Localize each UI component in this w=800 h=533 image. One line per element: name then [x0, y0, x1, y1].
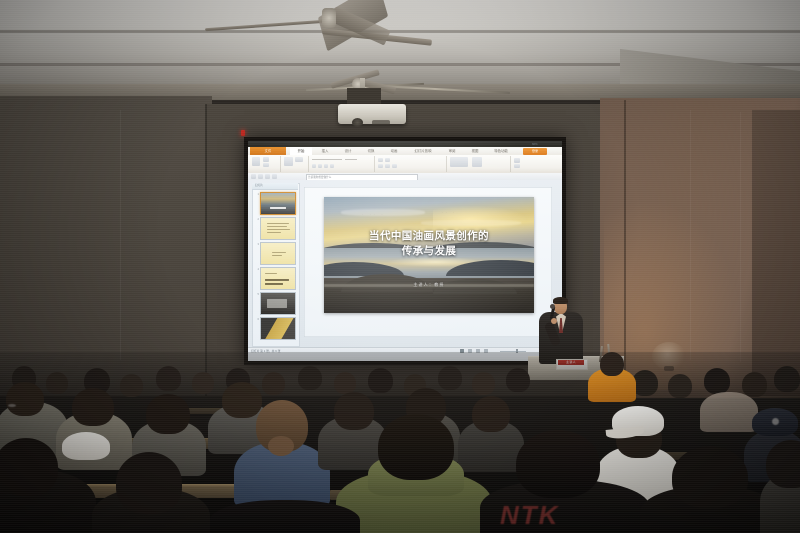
audience-head: [262, 372, 285, 395]
audience-head: [298, 366, 322, 390]
presenter-hair: [553, 297, 568, 304]
save-icon[interactable]: [251, 174, 256, 179]
slide-subtitle: 主讲人：教授: [324, 282, 534, 288]
thumb-art: [261, 243, 295, 264]
audience-head: [472, 396, 510, 432]
audience-head: [334, 392, 374, 430]
tab-home[interactable]: 开始: [290, 147, 312, 155]
layout-icon[interactable]: [295, 157, 303, 162]
redo-icon[interactable]: [265, 174, 270, 179]
tab-slideshow-label: 幻灯片放映: [415, 149, 432, 153]
shape-fill-icon[interactable]: [472, 157, 482, 167]
audience-head: [378, 414, 454, 480]
audience-head: [72, 388, 114, 426]
audience-head: [704, 368, 730, 394]
active-slide[interactable]: · ·· · ·· · 当代中国油画风景创作的 传承与发展 主讲人：教授: [324, 197, 534, 313]
thumb-number: 5: [253, 293, 259, 296]
slide-thumbnail-1[interactable]: [260, 192, 296, 215]
audience-head: [6, 382, 44, 416]
ceiling-seam: [0, 30, 800, 33]
tab-file-label: 文件: [250, 147, 286, 155]
audience-head: [334, 372, 356, 394]
numbered-list-icon[interactable]: [385, 158, 390, 162]
tab-home-label: 开始: [298, 149, 305, 153]
zoom-level-label: 66%: [532, 141, 538, 148]
tab-slideshow[interactable]: 幻灯片放映: [407, 147, 439, 155]
tab-design[interactable]: 设计: [338, 147, 358, 155]
projector-status-light: [241, 130, 245, 136]
align-left-icon[interactable]: [378, 164, 383, 168]
jacket-graphic-text: NTK: [500, 500, 559, 531]
projector-lens: [352, 118, 363, 127]
audience-head: [0, 438, 58, 496]
sign-in-button[interactable]: 登录: [523, 148, 547, 155]
thumb-number: 3: [253, 243, 259, 246]
tab-view[interactable]: 视图: [465, 147, 485, 155]
thumb-art: [261, 318, 295, 339]
audience-head: [116, 452, 182, 514]
sign-in-label: 登录: [523, 148, 547, 155]
bullet-list-icon[interactable]: [378, 158, 383, 162]
audience-head: [516, 430, 600, 498]
select-icon[interactable]: [514, 164, 520, 168]
thumb-number: 4: [253, 268, 259, 271]
tab-animations-label: 动画: [391, 149, 398, 153]
align-right-icon[interactable]: [392, 164, 397, 168]
start-slideshow-icon[interactable]: [272, 174, 277, 179]
audience-head: [600, 352, 624, 376]
slide-birds: ·· ·: [442, 210, 458, 214]
undo-icon[interactable]: [258, 174, 263, 179]
audience-head: [146, 394, 190, 434]
underline-icon[interactable]: [324, 164, 328, 168]
tab-features-label: 特色功能: [494, 149, 508, 153]
slide-title: 当代中国油画风景创作的 传承与发展: [324, 229, 534, 257]
new-slide-icon[interactable]: [284, 157, 293, 166]
white-cap-second: [62, 432, 110, 460]
slide-title-line2: 传承与发展: [324, 244, 534, 258]
audience-head: [774, 366, 800, 392]
tab-review[interactable]: 审阅: [442, 147, 462, 155]
wall-panel-seam: [740, 112, 741, 362]
cap-logo: [772, 418, 779, 425]
slide-thumbnail-6[interactable]: [260, 317, 296, 340]
thumb-number: 1: [253, 193, 259, 196]
tab-view-label: 视图: [472, 149, 479, 153]
slide-cloud: [421, 220, 522, 226]
slide-pane-header-label: 幻灯片: [252, 183, 298, 189]
wall-panel-seam: [120, 110, 121, 360]
slide-title-line1: 当代中国油画风景创作的: [324, 229, 534, 243]
wall-panel-seam: [690, 110, 691, 360]
audience-head: [156, 366, 181, 391]
slide-pane-header: 幻灯片: [252, 183, 298, 190]
tab-animations[interactable]: 动画: [384, 147, 404, 155]
italic-icon[interactable]: [318, 164, 322, 168]
find-icon[interactable]: [514, 158, 520, 163]
presenter-hand: [551, 318, 557, 324]
powerpoint-window: 文件 开始 插入 设计 切换 动画 幻灯片放映 审阅 视图 特色功能 登录: [248, 141, 562, 361]
align-center-icon[interactable]: [385, 164, 390, 168]
font-size-box[interactable]: [345, 159, 357, 160]
audience-head: [222, 382, 262, 418]
projector-vent: [372, 120, 390, 125]
paste-icon[interactable]: [252, 157, 260, 166]
lecture-hall-photo: 文件 开始 插入 设计 切换 动画 幻灯片放映 审阅 视图 特色功能 登录: [0, 0, 800, 533]
audience-head: [472, 372, 495, 395]
slide-thumbnail-4[interactable]: [260, 267, 296, 290]
shapes-gallery-icon[interactable]: [450, 157, 468, 167]
audience-head: [668, 374, 692, 398]
tab-features[interactable]: 特色功能: [488, 147, 514, 155]
copy-icon[interactable]: [263, 163, 269, 167]
tab-review-label: 审阅: [449, 149, 456, 153]
thumb-art: [261, 193, 295, 214]
thumb-number: 6: [253, 318, 259, 321]
text-shadow-icon[interactable]: [330, 164, 334, 168]
tab-transitions[interactable]: 切换: [361, 147, 381, 155]
thumb-number: 2: [253, 218, 259, 221]
audience-head: [120, 374, 143, 397]
tab-insert-label: 插入: [322, 149, 329, 153]
projection-screen: 文件 开始 插入 设计 切换 动画 幻灯片放映 审阅 视图 特色功能 登录: [248, 141, 562, 361]
tab-design-label: 设计: [345, 149, 352, 153]
audience-head: [506, 368, 530, 392]
thumb-art: [270, 207, 286, 209]
audience-head: [192, 372, 214, 394]
audience-shoulders: [700, 392, 758, 432]
projector-bracket: [347, 88, 381, 104]
eyeglasses-glint: [8, 404, 16, 407]
audience-shoulders: [210, 500, 360, 533]
audience-head: [672, 446, 748, 508]
hair-bun: [268, 436, 294, 456]
tab-transitions-label: 切换: [368, 149, 375, 153]
fan-motor-housing: [322, 8, 336, 28]
audience-head: [46, 372, 68, 394]
audience-head: [368, 368, 393, 393]
slide-birds: · ·· ·: [362, 212, 386, 216]
slide-thumbnail-5[interactable]: [260, 292, 296, 315]
font-name-box[interactable]: [312, 159, 342, 160]
audience-head: [742, 372, 767, 397]
audience-head: [438, 366, 462, 390]
tab-file[interactable]: 文件: [250, 147, 286, 155]
tab-insert[interactable]: 插入: [315, 147, 335, 155]
cut-icon[interactable]: [263, 157, 269, 162]
bold-icon[interactable]: [312, 164, 316, 168]
left-wall: [0, 96, 212, 396]
slide-thumbnail-3[interactable]: [260, 242, 296, 265]
slide-thumbnail-2[interactable]: [260, 217, 296, 240]
microphone-head: [550, 304, 555, 309]
